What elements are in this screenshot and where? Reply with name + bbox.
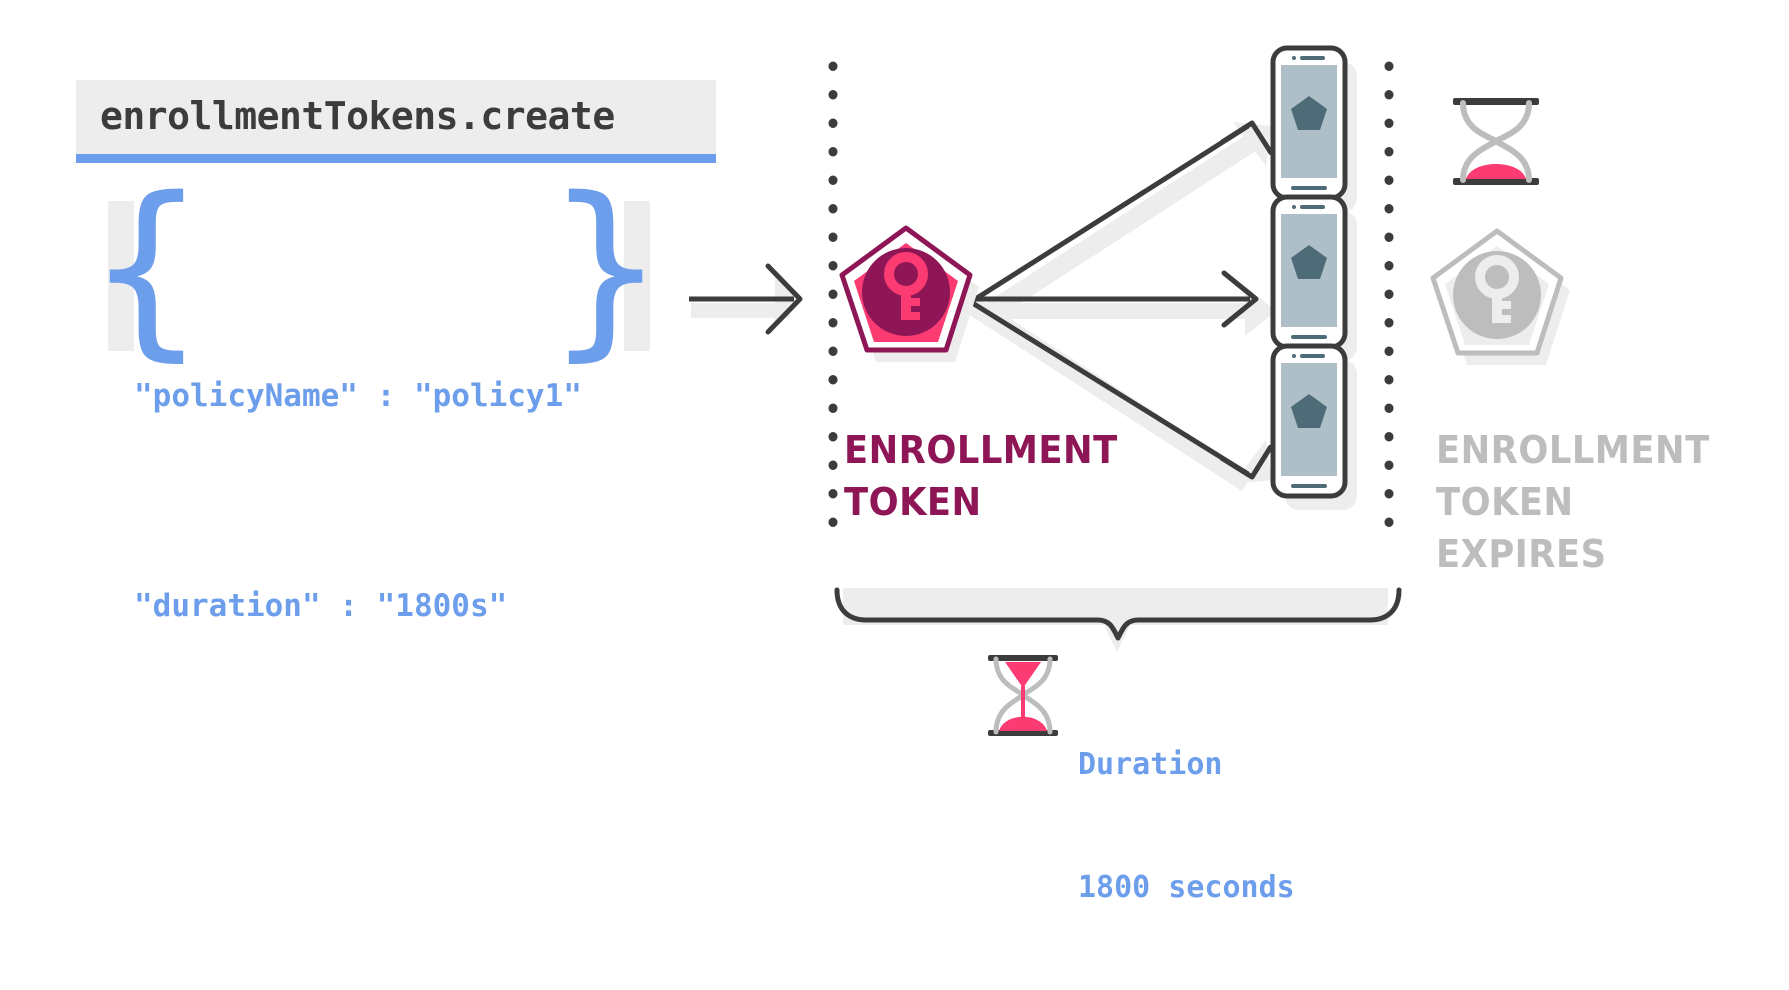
diagram-canvas: enrollmentTokens.create { } "policyName"… [0, 0, 1789, 795]
expires-label-line2: TOKEN [1436, 476, 1710, 528]
request-field-policyname: "policyName" : "policy1" [134, 361, 582, 431]
hourglass-expiry-icon [1453, 98, 1539, 185]
device-screen-pentagon-icon [1291, 245, 1327, 279]
request-field-duration: "duration" : "1800s" [134, 571, 582, 641]
expires-label-line3: EXPIRES [1436, 528, 1710, 580]
request-body-block: { } "policyName" : "policy1" "duration" … [86, 195, 666, 360]
enrollment-token-label-line2: TOKEN [844, 476, 1118, 528]
duration-caption-line1: Duration [1078, 744, 1295, 785]
api-call-header-bar: enrollmentTokens.create [76, 80, 716, 154]
duration-span-brace [837, 588, 1399, 652]
expired-token-icon [1433, 231, 1570, 365]
device-phone-3 [1273, 346, 1357, 510]
request-body-fields: "policyName" : "policy1" "duration" : "1… [134, 221, 582, 781]
enrollment-token-icon [842, 228, 979, 362]
enrollment-token-label-line1: ENROLLMENT [844, 424, 1118, 476]
device-screen-pentagon-icon [1291, 394, 1327, 428]
duration-caption: Duration 1800 seconds [1078, 662, 1295, 990]
enrollment-token-label: ENROLLMENT TOKEN [844, 424, 1118, 528]
api-call-name: enrollmentTokens.create [100, 94, 692, 138]
expires-label-line1: ENROLLMENT [1436, 424, 1710, 476]
device-screen-pentagon-icon [1291, 96, 1327, 130]
duration-caption-line2: 1800 seconds [1078, 867, 1295, 908]
enrollment-token-expires-label: ENROLLMENT TOKEN EXPIRES [1436, 424, 1710, 580]
arrow-request-to-token [689, 266, 800, 332]
api-call-header: enrollmentTokens.create [76, 80, 716, 163]
arrow-token-to-device-1 [966, 123, 1271, 305]
arrow-token-to-device-2 [966, 273, 1256, 325]
device-phone-2 [1273, 197, 1357, 361]
device-phone-1 [1273, 48, 1357, 212]
duration-hourglass-icon [988, 655, 1058, 736]
